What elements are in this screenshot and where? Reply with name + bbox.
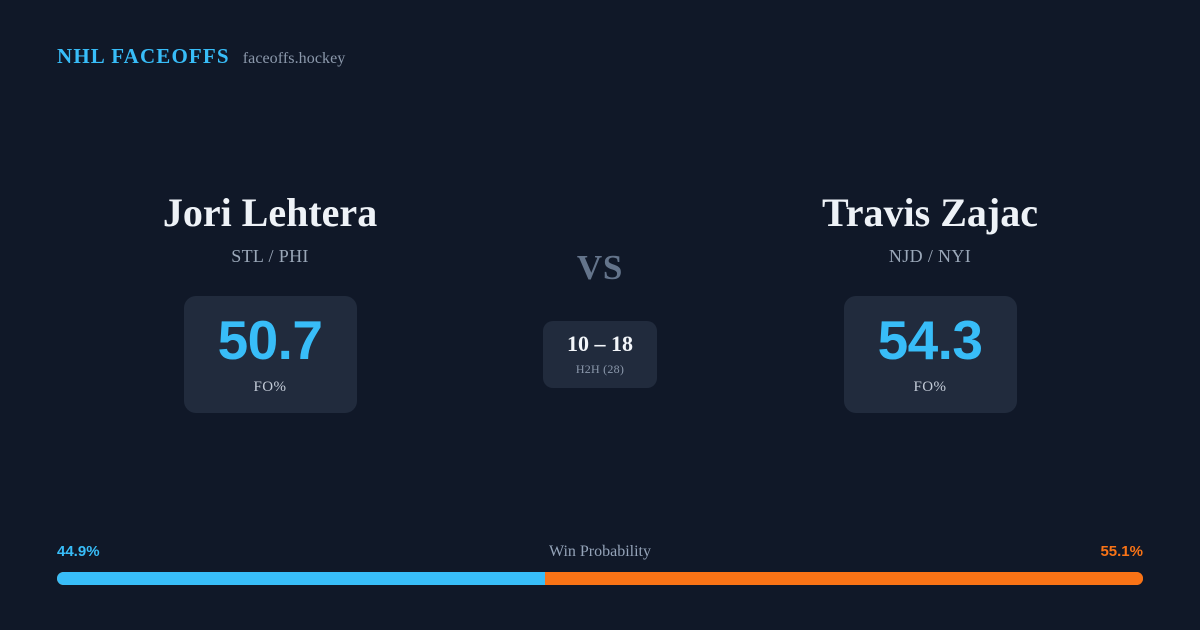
right-win-probability-value: 55.1% <box>1100 541 1143 563</box>
head-to-head-record: 10 – 18 <box>567 333 633 355</box>
win-probability-labels: 44.9% Win Probability 55.1% <box>57 541 1143 563</box>
brand-title: NHL FACEOFFS <box>57 46 230 67</box>
right-player-name: Travis Zajac <box>822 190 1038 236</box>
right-player-teams: NJD / NYI <box>889 246 971 267</box>
win-probability-bar-right-segment <box>545 572 1143 585</box>
win-probability-bar-left-segment <box>57 572 545 585</box>
matchup-section: Jori Lehtera STL / PHI 50.7 FO% VS 10 – … <box>0 190 1200 413</box>
left-player-block[interactable]: Jori Lehtera STL / PHI 50.7 FO% <box>70 190 470 413</box>
right-player-stat-label: FO% <box>913 379 946 396</box>
right-player-stat-card: 54.3 FO% <box>844 296 1017 413</box>
site-domain-label: faceoffs.hockey <box>243 51 346 67</box>
left-player-stat-label: FO% <box>253 379 286 396</box>
right-player-block[interactable]: Travis Zajac NJD / NYI 54.3 FO% <box>730 190 1130 413</box>
vs-label: VS <box>577 250 623 285</box>
left-player-stat-card: 50.7 FO% <box>184 296 357 413</box>
win-probability-bar <box>57 572 1143 585</box>
head-to-head-label: H2H (28) <box>576 362 624 377</box>
left-player-teams: STL / PHI <box>231 246 309 267</box>
left-player-faceoff-pct: 50.7 <box>218 313 323 368</box>
head-to-head-card: 10 – 18 H2H (28) <box>543 321 657 388</box>
site-header: NHL FACEOFFS faceoffs.hockey <box>57 46 345 67</box>
win-probability-title: Win Probability <box>57 541 1143 563</box>
versus-block: VS 10 – 18 H2H (28) <box>470 190 730 388</box>
right-player-faceoff-pct: 54.3 <box>878 313 983 368</box>
win-probability-section: 44.9% Win Probability 55.1% <box>57 541 1143 585</box>
left-player-name: Jori Lehtera <box>163 190 377 236</box>
